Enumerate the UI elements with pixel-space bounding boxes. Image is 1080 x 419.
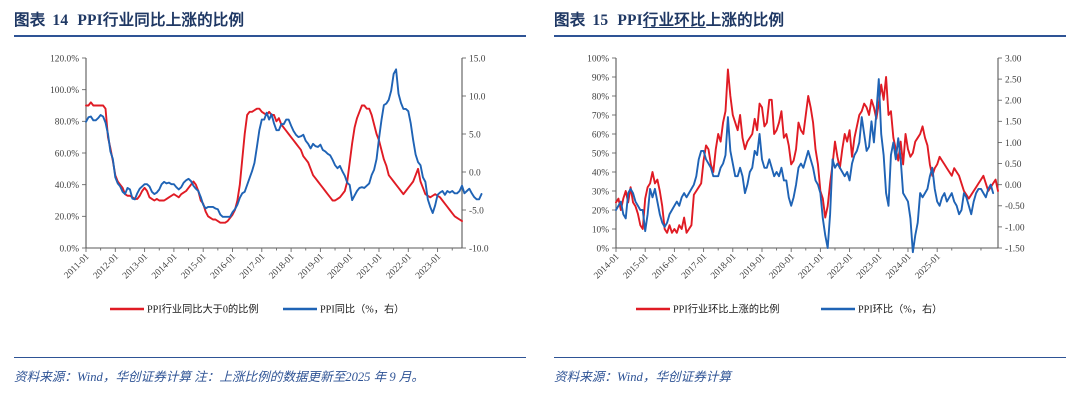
- y-axis-right-label: 0.0: [469, 168, 481, 178]
- y-axis-left-label: 20.0%: [55, 213, 79, 223]
- x-axis-label: 2024-01: [884, 252, 913, 281]
- x-axis-label: 2019-01: [738, 252, 767, 281]
- x-axis-label: 2014-01: [592, 252, 621, 281]
- x-axis-label: 2019-01: [297, 252, 326, 281]
- figure-panel-14: 图表14PPI行业同比上涨的比例 0.0%20.0%40.0%60.0%80.0…: [0, 0, 540, 419]
- x-axis-label: 2023-01: [414, 252, 443, 281]
- y-axis-left-label: 60%: [592, 130, 609, 140]
- figure-14-title-rule: [14, 35, 526, 37]
- x-axis-label: 2013-01: [121, 252, 150, 281]
- y-axis-right-label: -1.00: [1005, 223, 1025, 233]
- y-axis-right-label: -0.50: [1005, 202, 1025, 212]
- figure-15-title-main-c: 上涨的比例: [706, 12, 785, 29]
- figure-14-title-main-a: PPI: [77, 12, 103, 29]
- y-axis-right-label: 3.00: [1005, 54, 1022, 64]
- y-axis-left-label: 80%: [592, 92, 609, 102]
- y-axis-left-label: 70%: [592, 111, 609, 121]
- x-axis-label: 2018-01: [268, 252, 297, 281]
- y-axis-right-label: 10.0: [469, 92, 486, 102]
- x-axis-label: 2012-01: [92, 252, 121, 281]
- figure-14-footer-rule: [14, 357, 526, 358]
- x-axis-label: 2011-01: [63, 252, 92, 281]
- y-axis-left-label: 90%: [592, 73, 609, 83]
- x-axis-label: 2021-01: [797, 252, 826, 281]
- x-axis-label: 2020-01: [326, 252, 355, 281]
- legend-label: PPI行业环比上涨的比例: [673, 303, 779, 316]
- x-axis-label: 2015-01: [180, 252, 209, 281]
- y-axis-right-label: 2.50: [1005, 76, 1022, 86]
- x-axis-label: 2020-01: [768, 252, 797, 281]
- figure-15-title-prefix: 图表: [554, 12, 585, 29]
- series-line-blue: [86, 69, 482, 216]
- y-axis-right-label: 5.0: [469, 130, 481, 140]
- x-axis-label: 2016-01: [651, 252, 680, 281]
- x-axis-label: 2022-01: [385, 252, 414, 281]
- figure-15-footer-rule: [554, 357, 1066, 358]
- y-axis-left-label: 0%: [597, 244, 610, 254]
- figure-14-title-number: 14: [52, 12, 68, 29]
- x-axis-label: 2014-01: [150, 252, 179, 281]
- y-axis-right-label: 2.00: [1005, 97, 1022, 107]
- y-axis-right-label: -10.0: [469, 244, 489, 254]
- figure-15-title-rule: [554, 35, 1066, 37]
- figure-14-title: 图表14PPI行业同比上涨的比例: [14, 8, 526, 30]
- figure-14-title-main-b: 行业同比上涨的比例: [103, 12, 244, 29]
- y-axis-left-label: 30%: [592, 187, 609, 197]
- x-axis-label: 2016-01: [209, 252, 238, 281]
- y-axis-left-label: 100%: [587, 54, 609, 64]
- y-axis-right-label: 0.00: [1005, 181, 1022, 191]
- figure-14-chart-svg: 0.0%20.0%40.0%60.0%80.0%100.0%120.0%-10.…: [0, 44, 540, 354]
- x-axis-label: 2018-01: [709, 252, 738, 281]
- y-axis-right-label: 15.0: [469, 54, 486, 64]
- figure-14-source: 资料来源：Wind，华创证券计算 注：上涨比例的数据更新至2025 年 9 月。: [14, 366, 530, 388]
- y-axis-left-label: 120.0%: [50, 54, 79, 64]
- x-axis-label: 2022-01: [826, 252, 855, 281]
- y-axis-left-label: 50%: [592, 149, 609, 159]
- figure-15-plot: 0%10%20%30%40%50%60%70%80%90%100%-1.50-1…: [540, 44, 1080, 354]
- x-axis-label: 2021-01: [355, 252, 384, 281]
- y-axis-left-label: 40%: [592, 168, 609, 178]
- figure-15-title-main-a: PPI: [617, 12, 643, 29]
- y-axis-right-label: 0.50: [1005, 160, 1022, 170]
- legend-label: PPI同比（%，右）: [320, 303, 404, 316]
- figure-panel-15: 图表15PPI行业环比上涨的比例 0%10%20%30%40%50%60%70%…: [540, 0, 1080, 419]
- figure-15-chart-svg: 0%10%20%30%40%50%60%70%80%90%100%-1.50-1…: [540, 44, 1080, 354]
- legend-label: PPI行业同比大于0的比例: [147, 303, 259, 316]
- legend-label: PPI环比（%，右）: [858, 303, 942, 316]
- y-axis-right-label: -5.0: [469, 206, 484, 216]
- x-axis-label: 2025-01: [914, 252, 943, 281]
- figure-15-title-number: 15: [592, 12, 608, 29]
- y-axis-left-label: 80.0%: [55, 118, 79, 128]
- y-axis-left-label: 20%: [592, 206, 609, 216]
- y-axis-left-label: 60.0%: [55, 149, 79, 159]
- x-axis-label: 2015-01: [622, 252, 651, 281]
- x-axis-label: 2023-01: [855, 252, 884, 281]
- x-axis-label: 2017-01: [238, 252, 267, 281]
- x-axis-label: 2017-01: [680, 252, 709, 281]
- y-axis-left-label: 40.0%: [55, 181, 79, 191]
- figure-14-plot: 0.0%20.0%40.0%60.0%80.0%100.0%120.0%-10.…: [0, 44, 540, 354]
- figure-15-title: 图表15PPI行业环比上涨的比例: [554, 8, 1066, 30]
- figure-15-source: 资料来源：Wind，华创证券计算: [554, 366, 1070, 388]
- y-axis-right-label: -1.50: [1005, 244, 1025, 254]
- y-axis-left-label: 100.0%: [50, 86, 79, 96]
- y-axis-left-label: 10%: [592, 225, 609, 235]
- figures-page: 图表14PPI行业同比上涨的比例 0.0%20.0%40.0%60.0%80.0…: [0, 0, 1080, 419]
- y-axis-right-label: 1.50: [1005, 118, 1022, 128]
- figure-15-title-main-underlined: 行业环比: [643, 12, 706, 29]
- y-axis-right-label: 1.00: [1005, 139, 1022, 149]
- y-axis-left-label: 0.0%: [59, 244, 79, 254]
- figure-14-title-prefix: 图表: [14, 12, 45, 29]
